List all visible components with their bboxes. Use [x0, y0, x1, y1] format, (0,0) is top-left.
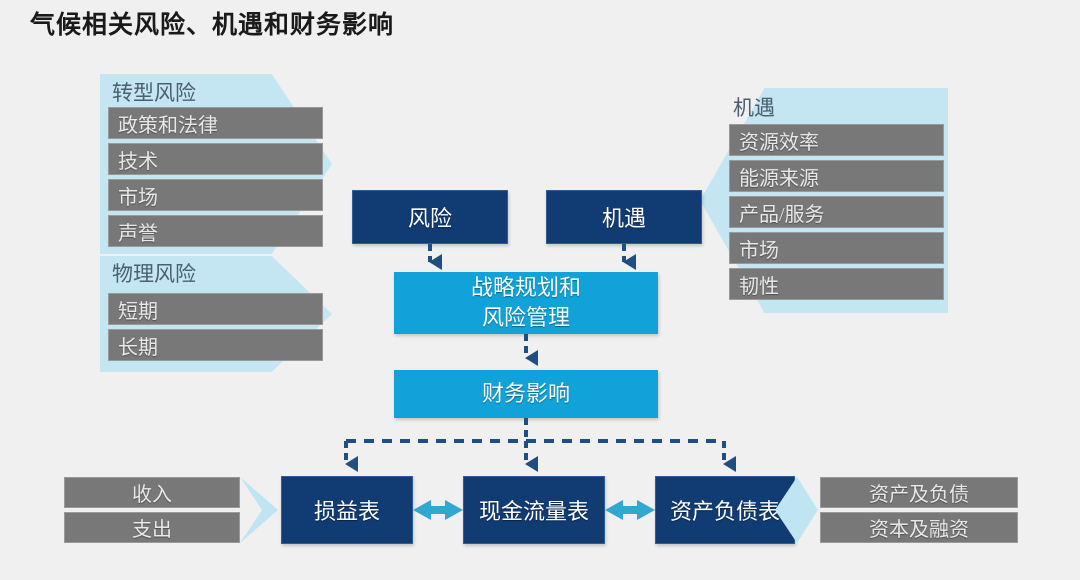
list-item[interactable]: 长期 — [108, 329, 323, 361]
financial-impact-box[interactable]: 财务影响 — [394, 370, 658, 418]
double-arrow-cashflow-balance — [605, 500, 655, 520]
list-item[interactable]: 市场 — [729, 232, 944, 264]
list-item[interactable]: 市场 — [108, 179, 323, 211]
list-item[interactable]: 产品/服务 — [729, 196, 944, 228]
bottom-left-item[interactable]: 支出 — [64, 512, 240, 543]
transition-risk-heading: 转型风险 — [112, 77, 196, 107]
statement-box-income[interactable]: 损益表 — [281, 476, 413, 544]
list-item[interactable]: 技术 — [108, 143, 323, 175]
bottom-left-item[interactable]: 收入 — [64, 477, 240, 508]
list-item[interactable]: 韧性 — [729, 268, 944, 300]
risk-box[interactable]: 风险 — [352, 190, 508, 244]
page-title: 气候相关风险、机遇和财务影响 — [30, 5, 394, 41]
bottom-right-item[interactable]: 资产及负债 — [820, 477, 1018, 508]
strategy-line-2: 风险管理 — [482, 303, 570, 333]
opportunity-heading: 机遇 — [733, 92, 775, 122]
physical-risk-heading: 物理风险 — [112, 258, 196, 288]
statement-box-cashflow[interactable]: 现金流量表 — [463, 476, 605, 544]
opportunity-box[interactable]: 机遇 — [546, 190, 702, 244]
double-arrow-income-cashflow — [413, 500, 463, 520]
list-item[interactable]: 政策和法律 — [108, 107, 323, 139]
chevron-left-feed — [240, 477, 278, 543]
strategy-line-1: 战略规划和 — [471, 273, 581, 303]
list-item[interactable]: 能源来源 — [729, 160, 944, 192]
diagram-canvas: 气候相关风险、机遇和财务影响 转型风险 政策和法律 技术 市场 声誉 物理风险 … — [0, 0, 1080, 580]
list-item[interactable]: 资源效率 — [729, 124, 944, 156]
statement-box-balance[interactable]: 资产负债表 — [655, 476, 795, 544]
bottom-right-item[interactable]: 资本及融资 — [820, 512, 1018, 543]
list-item[interactable]: 声誉 — [108, 215, 323, 247]
strategy-planning-box[interactable]: 战略规划和 风险管理 — [394, 272, 658, 334]
list-item[interactable]: 短期 — [108, 293, 323, 325]
